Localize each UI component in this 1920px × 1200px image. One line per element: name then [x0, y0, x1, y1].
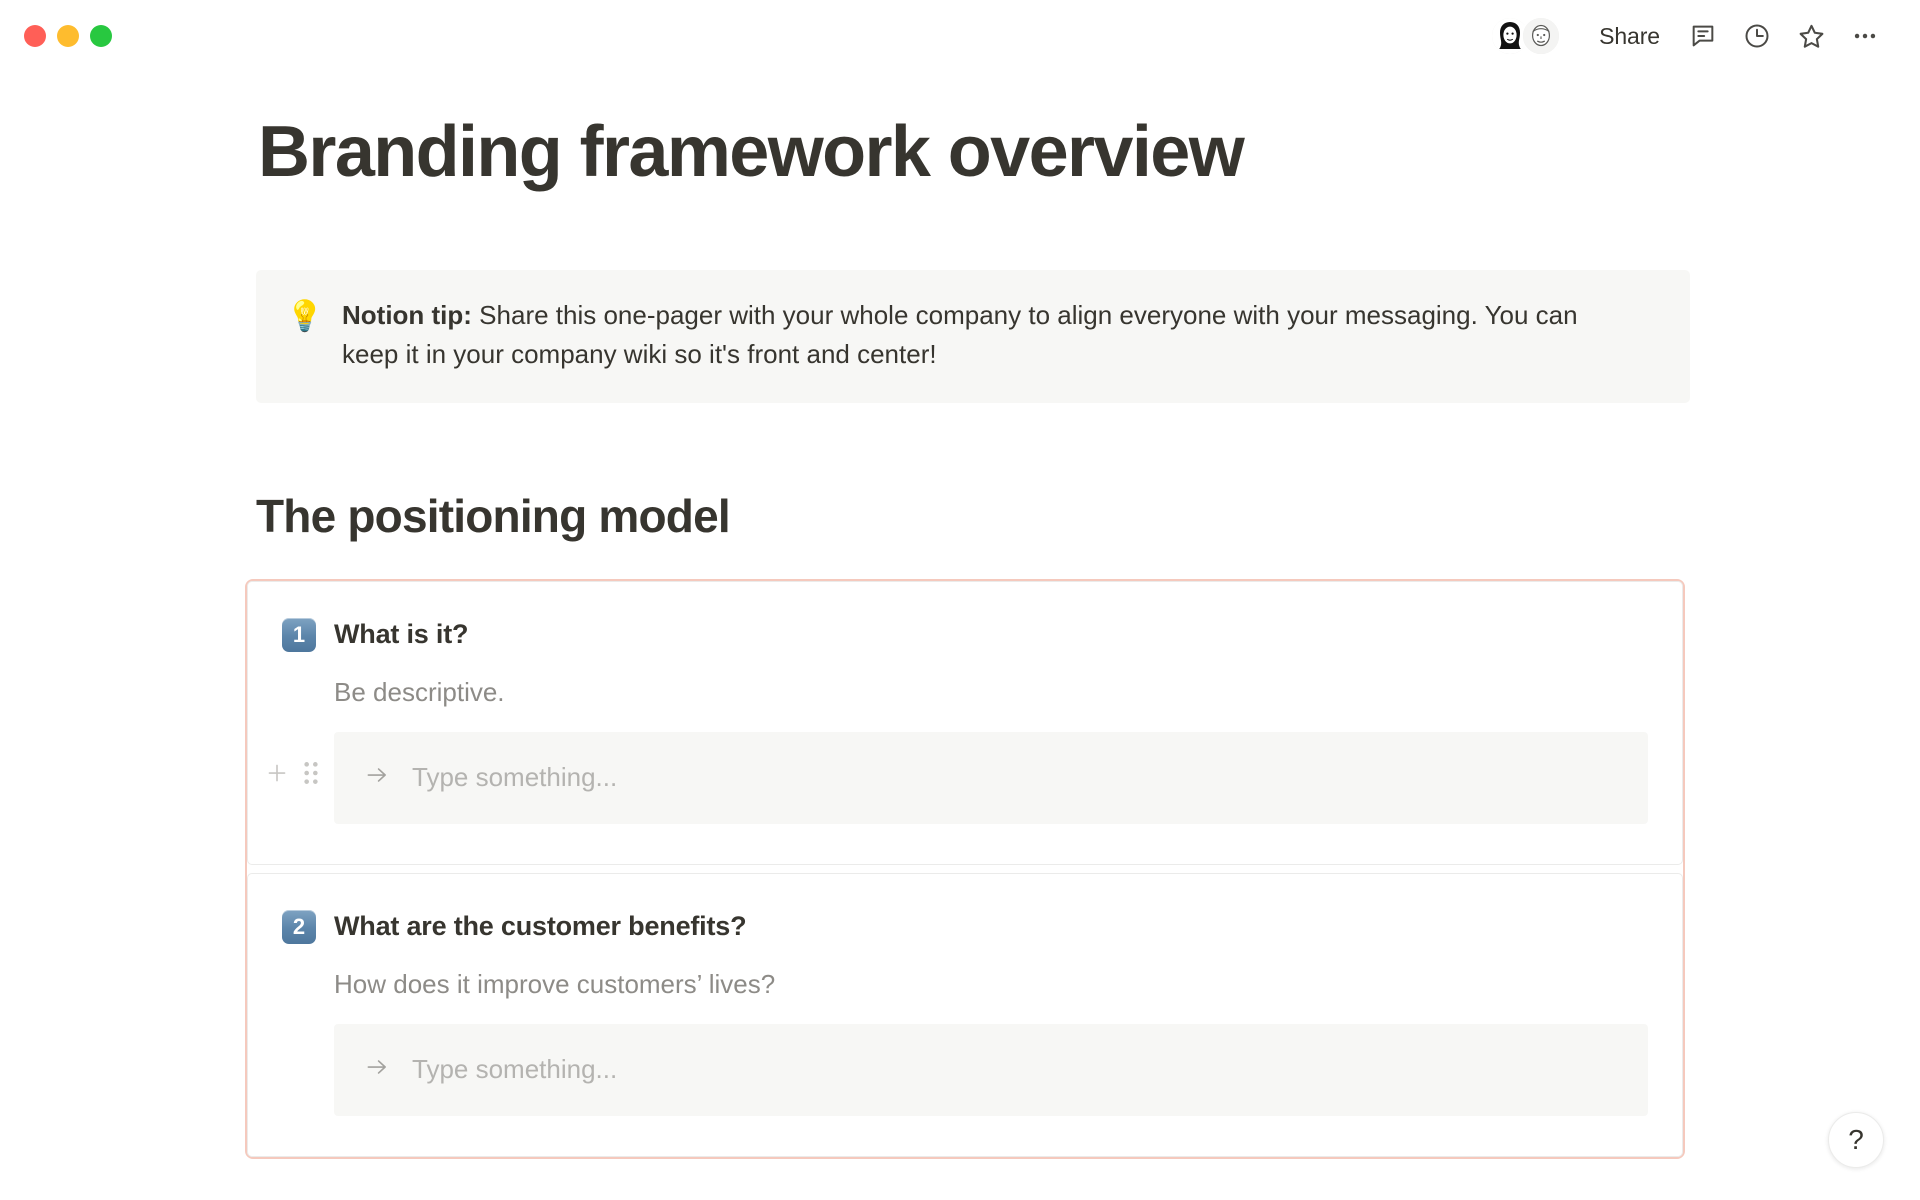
window-traffic-lights: [24, 25, 112, 47]
topbar-actions: Share: [1490, 13, 1888, 59]
share-button[interactable]: Share: [1587, 17, 1672, 56]
positioning-model-group: 1 What is it? Be descriptive.: [245, 579, 1685, 1159]
page-title[interactable]: Branding framework overview: [258, 114, 1920, 192]
minimize-button[interactable]: [57, 25, 79, 47]
callout-body: Share this one-pager with your whole com…: [342, 300, 1578, 370]
window-titlebar: Share: [0, 0, 1920, 72]
keycap-two-icon: 2: [282, 910, 316, 944]
callout-text: Notion tip: Share this one-pager with yo…: [342, 296, 1614, 375]
card-header: 2 What are the customer benefits?: [282, 910, 1648, 944]
callout-block[interactable]: 💡 Notion tip: Share this one-pager with …: [256, 270, 1690, 403]
model-card-2[interactable]: 2 What are the customer benefits? How do…: [247, 873, 1683, 1157]
star-icon[interactable]: [1788, 13, 1834, 59]
comment-icon[interactable]: [1680, 13, 1726, 59]
card-subtitle[interactable]: Be descriptive.: [334, 677, 1648, 708]
section-heading-positioning-model[interactable]: The positioning model: [256, 489, 1920, 543]
answer-input-placeholder-1: Type something...: [412, 762, 617, 793]
card-header: 1 What is it?: [282, 618, 1648, 652]
arrow-right-icon: [364, 1054, 390, 1085]
input-row-2: Type something...: [334, 1024, 1648, 1116]
answer-input-1[interactable]: Type something...: [334, 732, 1648, 824]
card-title[interactable]: What are the customer benefits?: [334, 911, 746, 942]
arrow-right-icon: [364, 762, 390, 793]
collaborator-avatars[interactable]: [1490, 16, 1561, 56]
answer-input-placeholder-2: Type something...: [412, 1054, 617, 1085]
answer-input-2[interactable]: Type something...: [334, 1024, 1648, 1116]
page-content: Branding framework overview 💡 Notion tip…: [0, 72, 1920, 1159]
keycap-one-icon: 1: [282, 618, 316, 652]
history-clock-icon[interactable]: [1734, 13, 1780, 59]
more-options-icon[interactable]: [1842, 13, 1888, 59]
close-button[interactable]: [24, 25, 46, 47]
block-controls-1: [264, 760, 320, 791]
card-title[interactable]: What is it?: [334, 619, 468, 650]
avatar-user-2[interactable]: [1521, 16, 1561, 56]
app-window: Share: [0, 0, 1920, 1200]
add-block-icon[interactable]: [264, 760, 290, 791]
maximize-button[interactable]: [90, 25, 112, 47]
input-row-1: Type something...: [334, 732, 1648, 824]
help-button[interactable]: ?: [1828, 1112, 1884, 1168]
callout-lead: Notion tip:: [342, 300, 472, 330]
card-subtitle[interactable]: How does it improve customers’ lives?: [334, 969, 1648, 1000]
model-card-1[interactable]: 1 What is it? Be descriptive.: [247, 581, 1683, 865]
drag-handle-icon[interactable]: [302, 760, 320, 791]
lightbulb-icon: 💡: [286, 296, 320, 338]
